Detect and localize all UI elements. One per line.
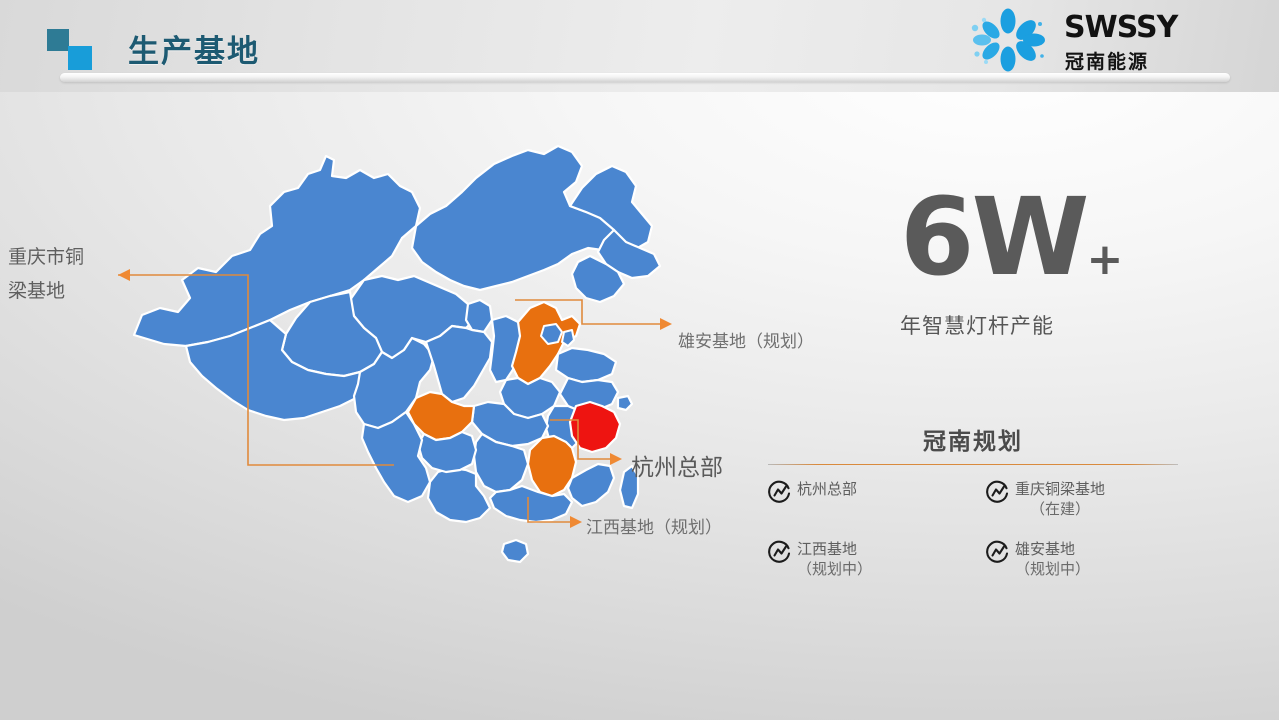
page-title: 生产基地 (128, 26, 260, 71)
stat-caption: 年智慧灯杆产能 (900, 310, 1230, 340)
analytics-circle-icon (768, 480, 792, 504)
analytics-circle-icon (986, 480, 1010, 504)
callout-jiangxi: 江西基地（规划） (586, 513, 722, 538)
decor-square-light-icon (68, 46, 92, 70)
legend-labels: 重庆铜梁基地 （在建） (1015, 479, 1105, 519)
legend-item-xiongan[interactable]: 雄安基地 （规划中） (978, 539, 1178, 579)
legend-name: 重庆铜梁基地 (1015, 479, 1105, 499)
analytics-circle-icon (768, 540, 792, 564)
analytics-circle-icon (986, 540, 1010, 564)
city-tianjin (562, 330, 574, 346)
stat-number: 6W (900, 185, 1086, 292)
callout-chongqing-line1: 重庆市铜 (8, 240, 84, 274)
header-divider (60, 73, 1230, 82)
province-hainan (502, 540, 528, 562)
legend-name: 杭州总部 (797, 479, 857, 499)
plan-legend-panel: 冠南规划 杭州总部 重庆铜梁基地 （在建） (768, 422, 1178, 579)
province-zhejiang (570, 402, 620, 452)
city-shanghai (618, 396, 632, 410)
capacity-stat: 6W+ 年智慧灯杆产能 (900, 185, 1230, 340)
brand-logo: SWSSY 冠南能源 (960, 8, 1220, 72)
logo-wordmark-cn: 冠南能源 (1065, 47, 1149, 74)
legend-name: 江西基地 (797, 539, 872, 559)
city-beijing (541, 324, 562, 344)
slide-root: 生产基地 SWSSY 冠南能源 (0, 0, 1279, 720)
logo-wordmark-en: SWSSY (1064, 10, 1177, 45)
legend-labels: 雄安基地 （规划中） (1015, 539, 1090, 579)
droplet-petal-logo-icon (960, 8, 1056, 72)
legend-sub: （在建） (1015, 499, 1105, 519)
legend-item-jiangxi[interactable]: 江西基地 （规划中） (768, 539, 968, 579)
province-shaanxi (426, 326, 492, 402)
china-map[interactable] (120, 130, 680, 570)
china-map-svg (120, 130, 680, 570)
callout-chongqing: 重庆市铜 梁基地 (8, 240, 84, 308)
legend-labels: 江西基地 （规划中） (797, 539, 872, 579)
callout-xiongan: 雄安基地（规划） (678, 327, 814, 352)
legend-title: 冠南规划 (768, 422, 1178, 456)
legend-name: 雄安基地 (1015, 539, 1090, 559)
stat-plus-sign: + (1086, 234, 1123, 285)
decor-square-dark-icon (47, 29, 69, 51)
callout-hangzhou: 杭州总部 (631, 448, 723, 482)
province-guizhou (418, 432, 476, 472)
legend-grid: 杭州总部 重庆铜梁基地 （在建） 江西基地 (768, 479, 1178, 579)
legend-item-chongqing[interactable]: 重庆铜梁基地 （在建） (978, 479, 1178, 519)
callout-chongqing-line2: 梁基地 (8, 274, 84, 308)
legend-divider (768, 464, 1178, 465)
province-shandong (556, 348, 616, 382)
legend-sub: （规划中） (797, 559, 872, 579)
legend-sub: （规划中） (1015, 559, 1090, 579)
legend-labels: 杭州总部 (797, 479, 857, 499)
province-ningxia (466, 300, 492, 332)
legend-item-hangzhou[interactable]: 杭州总部 (768, 479, 968, 519)
